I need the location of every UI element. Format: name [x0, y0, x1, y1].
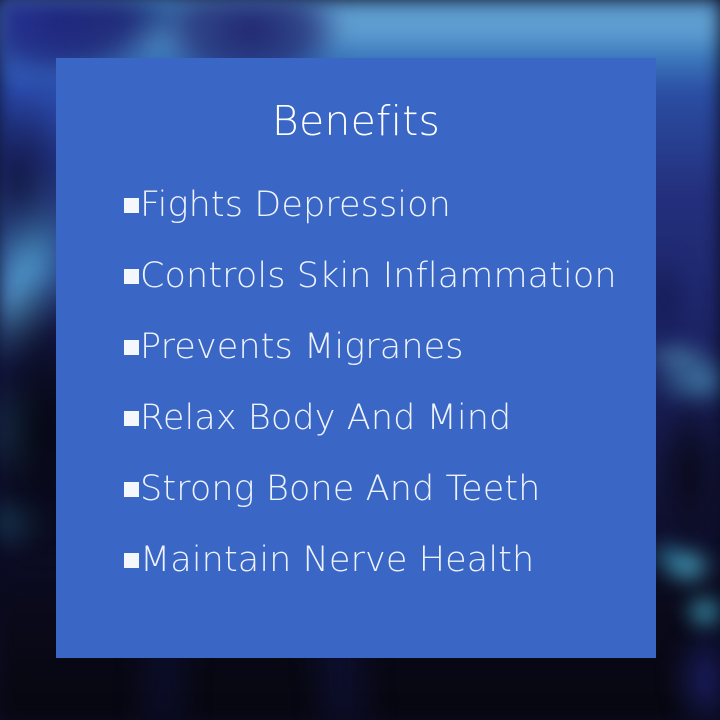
square-bullet-icon	[124, 269, 139, 284]
benefit-label: Controls Skin Inflammation	[140, 256, 617, 296]
list-item: Prevents Migranes	[124, 311, 656, 382]
slide-canvas: Benefits Fights Depression Controls Skin…	[0, 0, 720, 720]
square-bullet-icon	[124, 553, 139, 568]
square-bullet-icon	[124, 198, 139, 213]
benefit-label: Fights Depression	[140, 185, 451, 225]
benefit-label: Maintain Nerve Health	[140, 540, 534, 580]
list-item: Fights Depression	[124, 169, 656, 240]
benefit-label: Prevents Migranes	[140, 327, 464, 367]
benefits-list: Fights Depression Controls Skin Inflamma…	[56, 169, 656, 595]
list-item: Controls Skin Inflammation	[124, 240, 656, 311]
benefits-card: Benefits Fights Depression Controls Skin…	[56, 58, 656, 658]
list-item: Strong Bone And Teeth	[124, 453, 656, 524]
list-item: Relax Body And Mind	[124, 382, 656, 453]
benefit-label: Strong Bone And Teeth	[140, 469, 540, 509]
benefit-label: Relax Body And Mind	[140, 398, 511, 438]
square-bullet-icon	[124, 411, 139, 426]
list-item: Maintain Nerve Health	[124, 524, 656, 595]
square-bullet-icon	[124, 482, 139, 497]
square-bullet-icon	[124, 340, 139, 355]
page-title: Benefits	[56, 101, 656, 142]
